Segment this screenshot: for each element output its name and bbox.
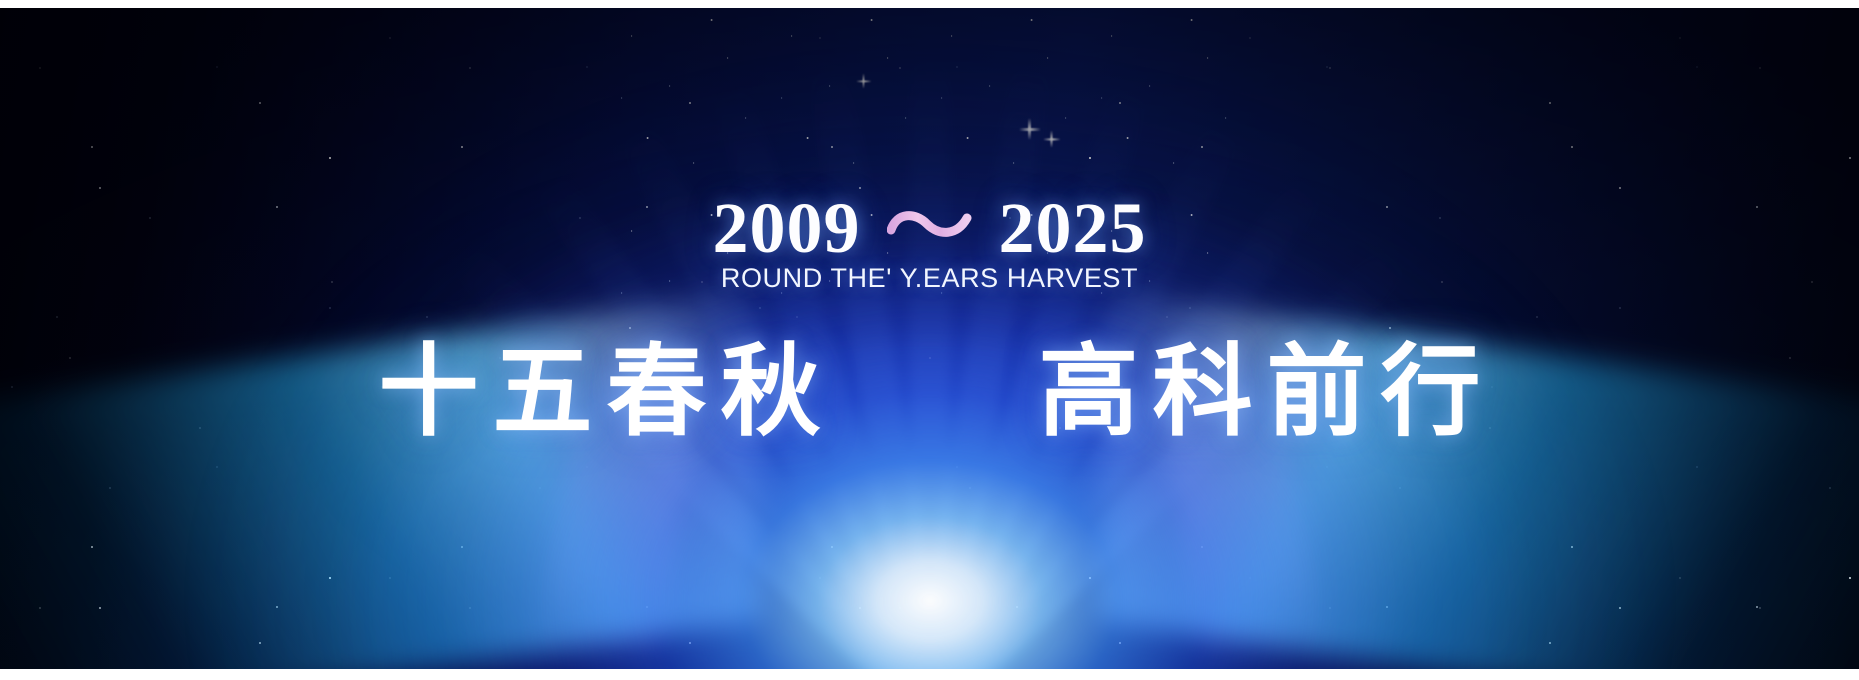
bottom-trim-bar (0, 669, 1859, 680)
top-trim-bar (0, 0, 1859, 8)
anniversary-banner: 2009 2025 ROUND THE' Y.EARS HA (0, 0, 1859, 680)
starry-sky-background (0, 8, 1859, 669)
center-bottom-glow (180, 8, 1680, 669)
